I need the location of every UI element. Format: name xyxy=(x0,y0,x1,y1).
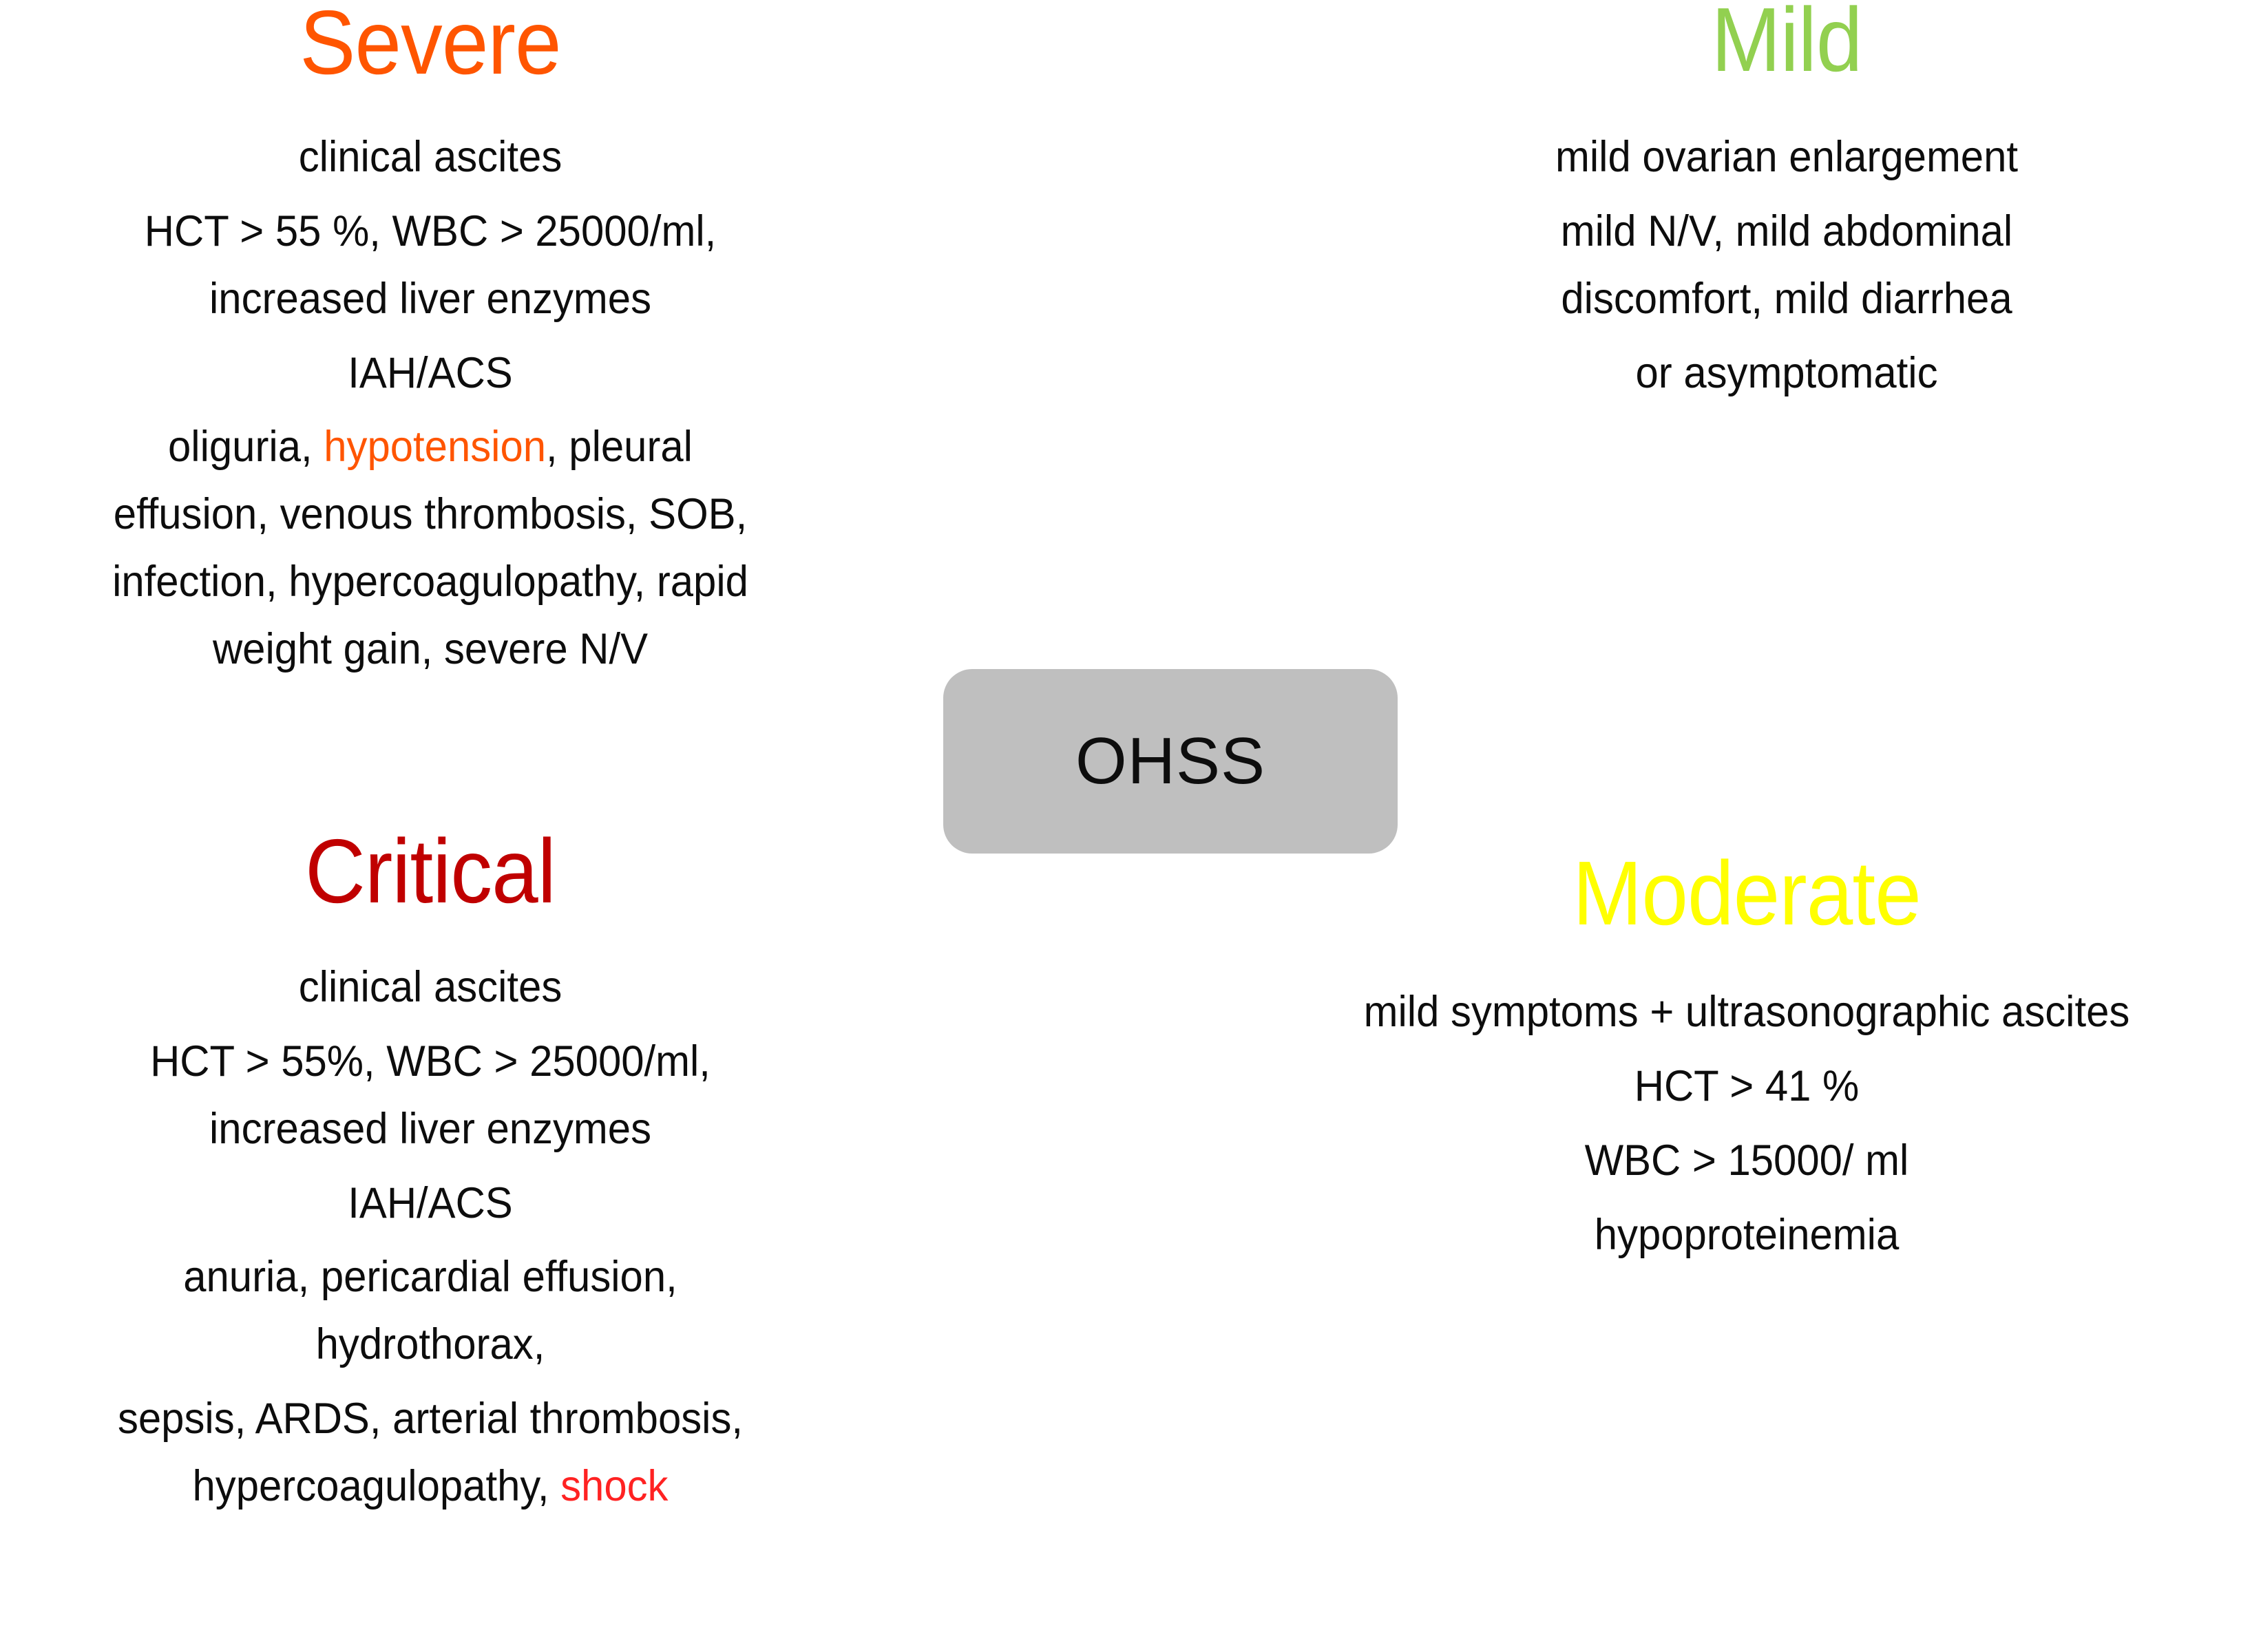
moderate-heading: Moderate xyxy=(1274,845,2220,942)
severe-line-8: weight gain, severe N/V xyxy=(21,622,839,678)
diagram-canvas: Severe clinical ascites HCT > 55 %, WBC … xyxy=(0,0,2261,1652)
critical-heading: Critical xyxy=(34,823,826,920)
moderate-line-3: WBC > 15000/ ml xyxy=(1258,1133,2235,1189)
critical-line-2: HCT > 55%, WBC > 25000/ml, xyxy=(21,1034,839,1090)
severe-heading: Severe xyxy=(34,0,826,91)
quadrant-severe: Severe clinical ascites HCT > 55 %, WBC … xyxy=(0,0,861,678)
severe-line-5-post: , pleural xyxy=(546,423,693,471)
moderate-line-4: hypoproteinemia xyxy=(1258,1207,2235,1264)
critical-line-4: IAH/ACS xyxy=(21,1176,839,1232)
mild-line-3: discomfort, mild diarrhea xyxy=(1352,271,2222,328)
critical-line-7: sepsis, ARDS, arterial thrombosis, xyxy=(21,1391,839,1448)
moderate-line-1: mild symptoms + ultrasonographic ascites xyxy=(1258,984,2235,1041)
severe-line-5: oliguria, hypotension, pleural xyxy=(21,419,839,476)
severe-line-2: HCT > 55 %, WBC > 25000/ml, xyxy=(21,204,839,260)
severe-line-6: effusion, venous thrombosis, SOB, xyxy=(21,487,839,543)
severe-line-7: infection, hypercoagulopathy, rapid xyxy=(21,554,839,611)
moderate-body: mild symptoms + ultrasonographic ascites… xyxy=(1232,984,2261,1264)
severe-line-5-pre: oliguria, xyxy=(168,423,324,471)
quadrant-critical: Critical clinical ascites HCT > 55%, WBC… xyxy=(0,823,861,1515)
quadrant-mild: Mild mild ovarian enlargement mild N/V, … xyxy=(1329,0,2244,401)
ohss-center-node[interactable]: OHSS xyxy=(943,669,1398,854)
critical-line-6: hydrothorax, xyxy=(21,1317,839,1373)
mild-heading: Mild xyxy=(1365,0,2208,88)
critical-line-5: anuria, pericardial effusion, xyxy=(21,1249,839,1306)
mild-line-4: or asymptomatic xyxy=(1352,346,2222,402)
severe-line-3: increased liver enzymes xyxy=(21,271,839,328)
mild-line-2: mild N/V, mild abdominal xyxy=(1352,204,2222,260)
ohss-label: OHSS xyxy=(1075,728,1265,794)
critical-line-8: hypercoagulopathy, shock xyxy=(21,1459,839,1515)
moderate-line-2: HCT > 41 % xyxy=(1258,1059,2235,1115)
critical-line-3: increased liver enzymes xyxy=(21,1101,839,1158)
critical-line-1: clinical ascites xyxy=(21,960,839,1016)
severe-line-1: clinical ascites xyxy=(21,129,839,186)
critical-body: clinical ascites HCT > 55%, WBC > 25000/… xyxy=(0,960,861,1515)
severe-highlight-hypotension: hypotension xyxy=(324,423,546,471)
quadrant-moderate: Moderate mild symptoms + ultrasonographi… xyxy=(1232,845,2261,1263)
mild-body: mild ovarian enlargement mild N/V, mild … xyxy=(1329,129,2244,402)
severe-body: clinical ascites HCT > 55 %, WBC > 25000… xyxy=(0,129,861,678)
mild-line-1: mild ovarian enlargement xyxy=(1352,129,2222,186)
critical-line-8-pre: hypercoagulopathy, xyxy=(193,1462,561,1510)
critical-highlight-shock: shock xyxy=(560,1462,668,1510)
severe-line-4: IAH/ACS xyxy=(21,346,839,402)
